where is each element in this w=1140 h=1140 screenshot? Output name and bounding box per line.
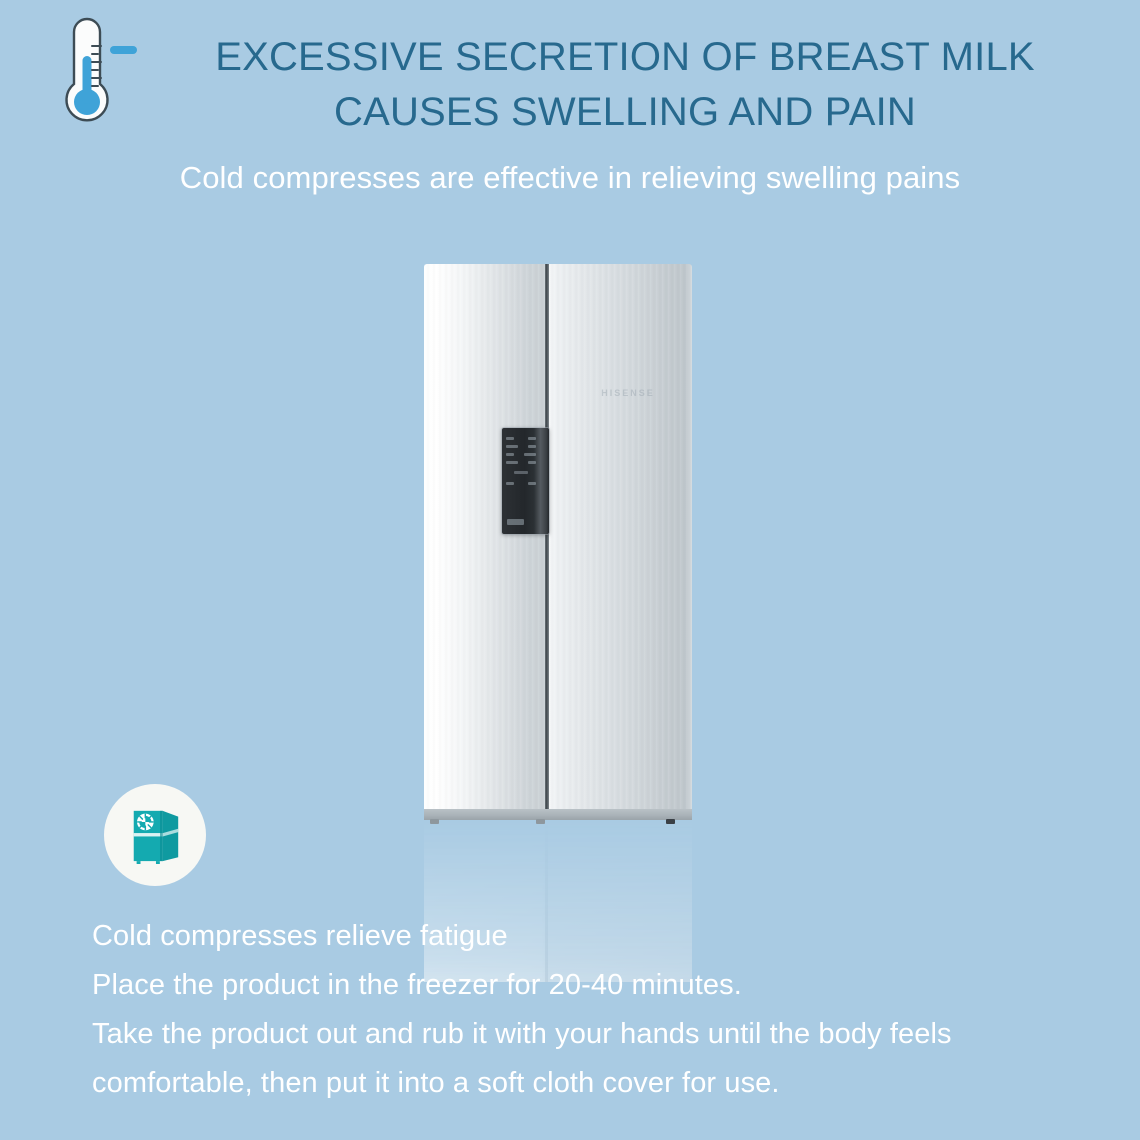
control-panel-indicator	[528, 437, 536, 440]
control-panel-row	[506, 445, 536, 448]
control-panel-indicator	[524, 453, 536, 456]
refrigerator-kickplate	[424, 809, 692, 820]
control-panel-indicator	[506, 445, 518, 448]
refrigerator-freezer-icon	[126, 805, 184, 865]
control-panel-indicator	[506, 453, 514, 456]
refrigerator-product-photo: HISENSE	[424, 264, 692, 820]
control-panel-row	[506, 453, 536, 456]
poster-root: EXCESSIVE SECRETION OF BREAST MILK CAUSE…	[0, 0, 1140, 1140]
control-panel-display	[514, 471, 528, 474]
control-panel-badge	[507, 519, 524, 525]
control-panel-indicator	[506, 482, 514, 485]
header-block: EXCESSIVE SECRETION OF BREAST MILK CAUSE…	[0, 0, 1140, 215]
instruction-line-4: comfortable, then put it into a soft clo…	[92, 1059, 1118, 1108]
control-panel-indicator	[528, 461, 536, 464]
refrigerator-right-door	[548, 264, 692, 820]
refrigerator-freezer-icon-badge	[104, 784, 206, 886]
control-panel-indicator	[506, 437, 514, 440]
instructions-text-block: Cold compresses relieve fatigue Place th…	[92, 912, 1118, 1108]
title-line-1: EXCESSIVE SECRETION OF BREAST MILK	[130, 30, 1120, 85]
control-panel-indicator	[528, 482, 536, 485]
poster-title: EXCESSIVE SECRETION OF BREAST MILK CAUSE…	[130, 30, 1120, 140]
control-panel-buttons	[506, 437, 536, 490]
title-line-2: CAUSES SWELLING AND PAIN	[130, 85, 1120, 140]
refrigerator-door-seam	[545, 264, 549, 809]
control-panel-row	[506, 461, 536, 464]
instruction-line-1: Cold compresses relieve fatigue	[92, 912, 1118, 961]
refrigerator-brand-logo: HISENSE	[592, 388, 664, 399]
poster-subtitle: Cold compresses are effective in relievi…	[0, 156, 1140, 200]
instruction-line-3: Take the product out and rub it with you…	[92, 1010, 1118, 1059]
control-panel-indicator	[506, 461, 518, 464]
thermometer-cold-icon	[48, 16, 138, 132]
control-panel-row	[506, 437, 536, 440]
refrigerator-left-door	[424, 264, 546, 820]
instruction-line-2: Place the product in the freezer for 20-…	[92, 961, 1118, 1010]
control-panel-row	[506, 482, 536, 485]
control-panel-indicator	[528, 445, 536, 448]
refrigerator-control-panel	[502, 428, 549, 534]
